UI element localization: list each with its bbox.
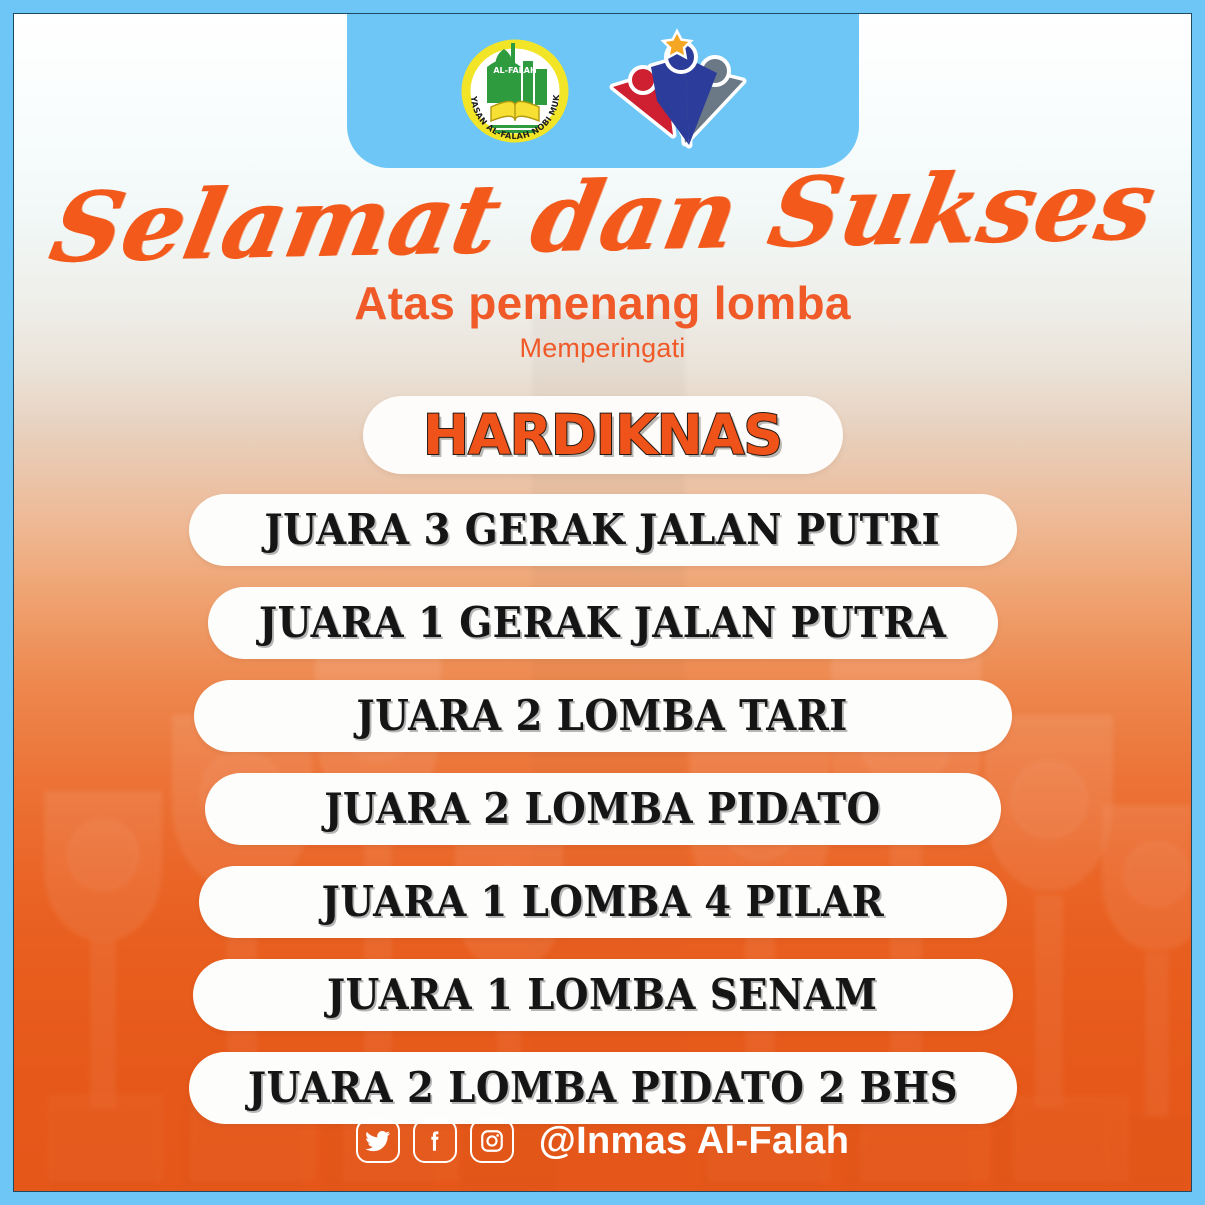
poster-canvas: AL-FALAH YAYASAN AL-FALAH NOBI MUKTI xyxy=(0,0,1205,1205)
winner-pill-text: JUARA 2 LOMBA TARI xyxy=(357,695,848,737)
logo-center-text: AL-FALAH xyxy=(493,66,536,75)
winners-list: JUARA 3 GERAK JALAN PUTRIJUARA 1 GERAK J… xyxy=(14,494,1191,1145)
poster-inner-frame: AL-FALAH YAYASAN AL-FALAH NOBI MUKTI xyxy=(13,13,1192,1192)
facebook-icon[interactable] xyxy=(413,1119,457,1163)
header-panel: AL-FALAH YAYASAN AL-FALAH NOBI MUKTI xyxy=(347,13,859,168)
winner-pill: JUARA 2 LOMBA PIDATO xyxy=(205,773,1001,845)
instagram-icon[interactable] xyxy=(470,1119,514,1163)
yayasan-al-falah-logo: AL-FALAH YAYASAN AL-FALAH NOBI MUKTI xyxy=(451,27,579,155)
headings-block: Selamat dan Sukses Atas pemenang lomba M… xyxy=(14,169,1191,364)
social-handle: @Inmas Al-Falah xyxy=(539,1120,849,1163)
subtitle: Atas pemenang lomba xyxy=(14,279,1191,327)
winner-pill: JUARA 1 GERAK JALAN PUTRA xyxy=(208,587,998,659)
winner-pill-text: JUARA 3 GERAK JALAN PUTRI xyxy=(265,509,941,551)
occasion-label: Memperingati xyxy=(14,333,1191,364)
winner-pill: JUARA 3 GERAK JALAN PUTRI xyxy=(189,494,1017,566)
event-name-pill: HARDIKNAS xyxy=(363,396,843,474)
winner-pill: JUARA 2 LOMBA TARI xyxy=(194,680,1012,752)
event-name: HARDIKNAS xyxy=(423,408,782,463)
winner-pill-text: JUARA 1 GERAK JALAN PUTRA xyxy=(259,602,947,644)
logo-row: AL-FALAH YAYASAN AL-FALAH NOBI MUKTI xyxy=(347,13,859,168)
winner-pill-text: JUARA 1 LOMBA 4 PILAR xyxy=(321,881,884,923)
winner-pill: JUARA 1 LOMBA 4 PILAR xyxy=(199,866,1007,938)
winner-pill-text: JUARA 2 LOMBA PIDATO xyxy=(324,788,880,830)
script-title: Selamat dan Sukses xyxy=(13,157,1192,282)
winner-pill-text: JUARA 2 LOMBA PIDATO 2 BHS xyxy=(247,1067,957,1109)
winner-pill: JUARA 1 LOMBA SENAM xyxy=(193,959,1013,1031)
winner-pill: JUARA 2 LOMBA PIDATO 2 BHS xyxy=(189,1052,1017,1124)
twitter-icon[interactable] xyxy=(356,1119,400,1163)
winner-pill-text: JUARA 1 LOMBA SENAM xyxy=(327,974,878,1016)
footer-bar: @Inmas Al-Falah xyxy=(14,1119,1191,1163)
tut-wuri-handayani-logo xyxy=(605,27,755,155)
